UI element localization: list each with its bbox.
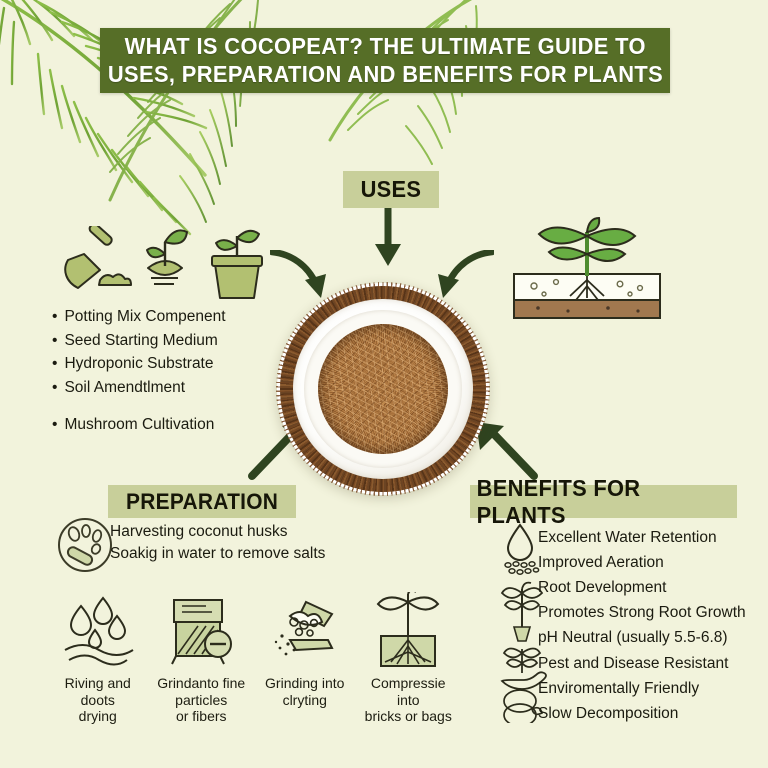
list-item: Hydroponic Substrate [52,352,282,376]
preparation-stage: Grindanto fine particles or fibers [152,592,252,725]
water-drop-icon [508,525,532,560]
list-item: Pest and Disease Resistant [538,651,768,676]
section-badge-benefits: BENEFITS FOR PLANTS [470,485,737,518]
list-item: Potting Mix Compenent [52,305,282,329]
coconut-coir-core [318,324,448,454]
list-item: Slow Decomposition [538,701,768,726]
potted-plant-icon [212,231,262,298]
preparation-stage: Riving and doots drying [48,592,148,725]
badge-uses-label: USES [361,176,422,203]
list-item: Soil Amendtlment [52,376,282,400]
eco-badge-icon [504,690,542,723]
preparation-step: Harvesting coconut husks [110,521,325,543]
list-item: Root Development [538,575,768,600]
badge-benefits-label: BENEFITS FOR PLANTS [477,475,731,529]
scoop-granules-icon [266,592,344,672]
section-badge-preparation: PREPARATION [108,485,296,518]
title-banner: WHAT IS COCOPEAT? THE ULTIMATE GUIDE TO … [100,28,670,93]
title-line-1: WHAT IS COCOPEAT? THE ULTIMATE GUIDE TO [124,33,645,61]
coconut-cross-section [277,283,489,495]
preparation-stage-caption: Riving and doots drying [65,675,131,725]
list-item: Mushroom Cultivation [52,413,282,437]
badge-preparation-label: PREPARATION [126,489,278,515]
list-item: Promotes Strong Root Growth [538,600,768,625]
list-item: Enviromentally Friendly [538,676,768,701]
preparation-steps: Harvesting coconut husks Soakig in water… [110,521,325,565]
title-line-2: USES, PREPARATION AND BENEFITS FOR PLANT… [107,61,662,89]
benefits-list: Excellent Water Retention Improved Aerat… [538,525,768,726]
sprouting-seed-icon [147,230,187,284]
arrow-curve-topright-icon [432,250,494,302]
list-item: Improved Aeration [538,550,768,575]
water-droplets-icon [59,592,137,672]
list-item: Seed Starting Medium [52,329,282,353]
uses-list: Potting Mix Compenent Seed Starting Medi… [52,305,282,437]
plant-roots-block-icon [369,592,447,672]
uses-icon-row [48,226,268,308]
arrow-curve-topleft-icon [270,250,332,302]
seedling-in-soil-icon [508,216,666,322]
grinding-machine-icon [162,592,240,672]
cocopeat-infographic: WHAT IS COCOPEAT? THE ULTIMATE GUIDE TO … [0,0,768,768]
preparation-stage-grid: Riving and doots drying Grindanto fine p… [48,592,458,725]
section-badge-uses: USES [343,171,439,208]
preparation-stage: Compressie into bricks or bags [359,592,459,725]
list-item: pH Neutral (usually 5.5-6.8) [538,625,768,650]
plant-leaves-icon [502,583,542,641]
preparation-stage-caption: Compressie into bricks or bags [359,675,459,725]
trowel-soil-icon [65,226,131,288]
list-item: Excellent Water Retention [538,525,768,550]
preparation-step: Soakig in water to remove salts [110,543,325,565]
preparation-stage: Grinding into clryting [255,592,355,725]
preparation-stage-caption: Grindanto fine particles or fibers [157,675,245,725]
preparation-stage-caption: Grinding into clryting [265,675,344,708]
aeration-bubbles-icon [505,562,539,574]
coconut-husk-circle-icon [56,516,114,574]
arrow-down-icon [372,208,404,270]
